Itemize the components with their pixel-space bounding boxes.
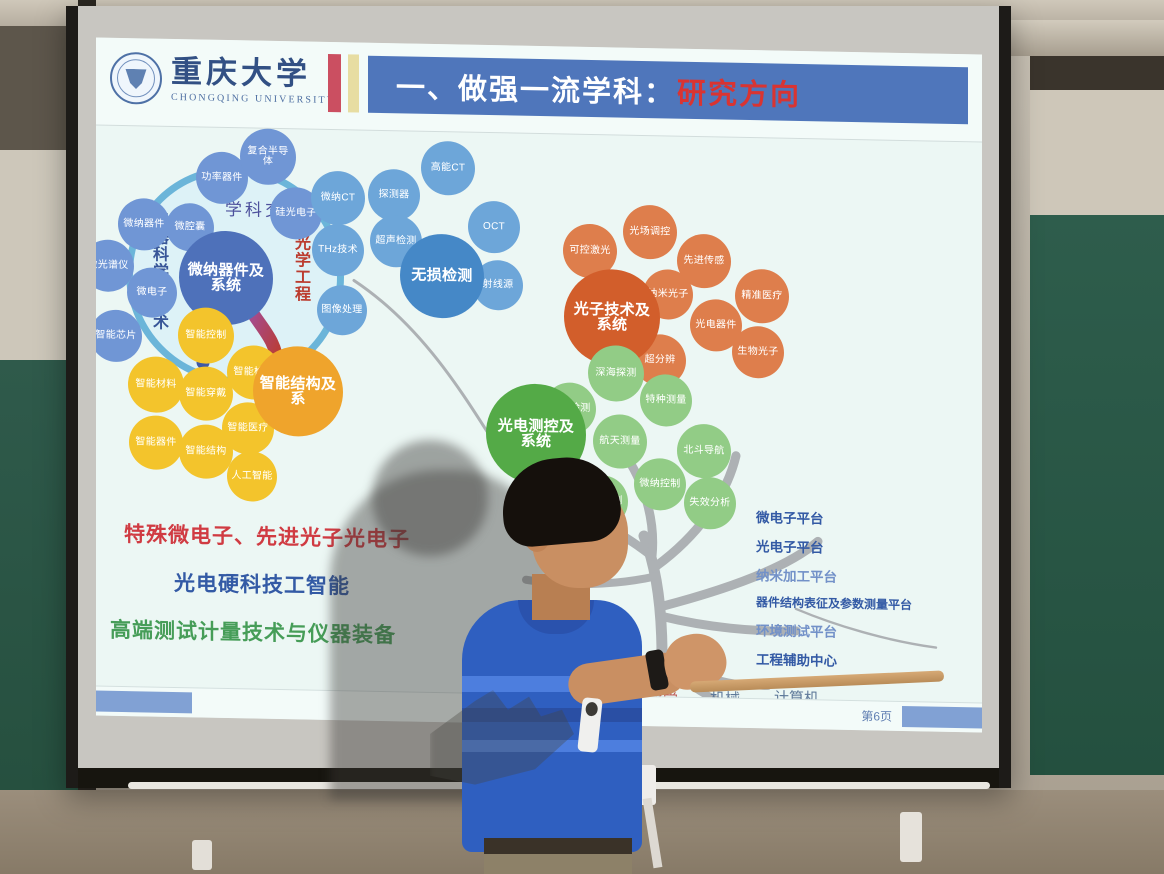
seal-shield-icon <box>126 69 147 89</box>
presenter-belt <box>484 838 632 854</box>
platform-list: 微电子平台 光电子平台 纳米加工平台 器件结构表征及参数测量平台 环境测试平台 … <box>756 506 982 681</box>
platform-item-3: 器件结构表征及参数测量平台 <box>756 593 982 614</box>
cluster-node-sub: 智能结构 <box>179 424 233 479</box>
page-number: 第6页 <box>861 707 892 725</box>
screen-stand-right <box>900 812 922 862</box>
footer-chip-right <box>902 706 982 729</box>
slide-header: 重庆大学 CHONGQING UNIVERSITY 一、做强一流学科： 研究方向 <box>96 37 982 142</box>
screen-stand-left <box>192 840 212 870</box>
cluster-node-sub: 智能控制 <box>178 307 234 364</box>
cluster-node-sub: 智能器件 <box>129 415 183 470</box>
platform-item-2: 纳米加工平台 <box>756 564 982 588</box>
platform-item-1: 光电子平台 <box>756 535 982 559</box>
presenter-hair <box>498 453 623 549</box>
lecture-room-scene: 重庆大学 CHONGQING UNIVERSITY 一、做强一流学科： 研究方向 <box>0 0 1164 874</box>
presenter <box>440 440 670 874</box>
wall-panel-right <box>1030 90 1164 215</box>
university-seal-icon <box>110 52 162 105</box>
platform-item-0: 微电子平台 <box>756 506 982 530</box>
footer-chip-left <box>96 690 192 713</box>
accent-bar-yellow <box>348 54 359 112</box>
accent-bar-red <box>328 54 341 112</box>
slide-title-band: 一、做强一流学科： 研究方向 <box>368 56 968 125</box>
chalkboard-right <box>1030 215 1164 775</box>
platform-item-4: 环境测试平台 <box>756 619 982 643</box>
platform-item-5: 工程辅助中心 <box>756 648 982 672</box>
tagline-2: 光电硬科技工智能 <box>174 567 350 600</box>
cluster-node-sub: 智能穿戴 <box>179 366 233 421</box>
cluster-node-sub: 智能材料 <box>128 356 184 413</box>
slide-title-main: 一、做强一流学科： <box>396 64 675 111</box>
university-name: 重庆大学 <box>171 55 336 89</box>
university-logo: 重庆大学 CHONGQING UNIVERSITY <box>110 52 336 108</box>
cluster-node-main: 智能结构及系 <box>253 346 343 438</box>
slide-title-accent: 研究方向 <box>677 69 801 113</box>
university-name-en: CHONGQING UNIVERSITY <box>171 91 336 105</box>
cluster-node-sub: 人工智能 <box>227 451 277 502</box>
